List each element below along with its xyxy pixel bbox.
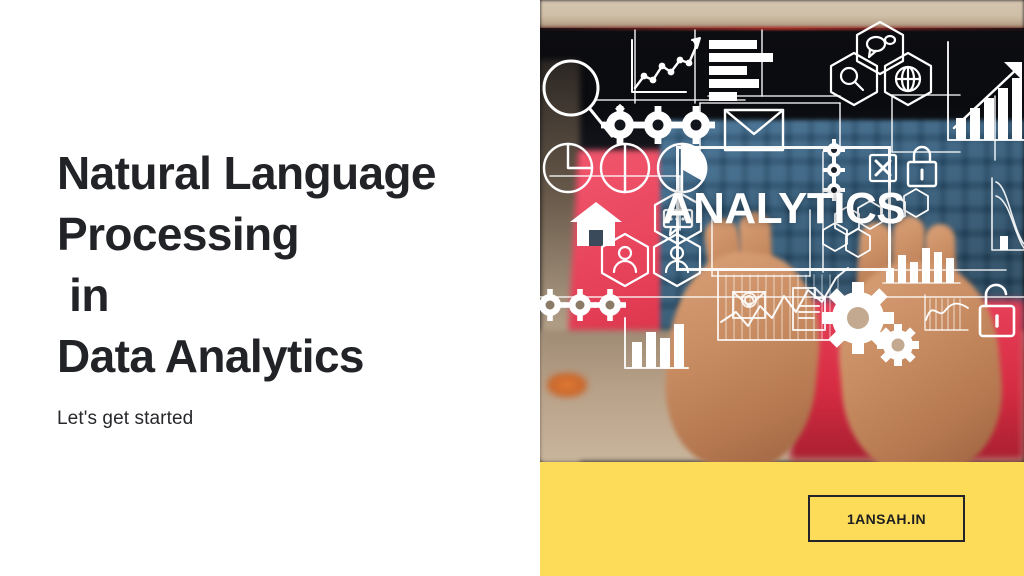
padlock-closed-icon — [908, 147, 936, 186]
brand-label: 1ANSAH.IN — [847, 511, 926, 527]
envelope-icon — [725, 110, 783, 150]
slide-subtitle: Let's get started — [57, 408, 193, 430]
title-line-3: in — [57, 265, 527, 326]
wave-chart-icon — [925, 295, 968, 330]
gear-icon — [601, 104, 715, 144]
image-panel: ANALYTICS 1ANSAH.IN — [540, 0, 1024, 576]
presentation-slide: Natural Language Processing in Data Anal… — [0, 0, 1024, 576]
title-line-2: Processing — [57, 204, 527, 265]
chat-bubble-hexagon-icon — [857, 22, 903, 74]
padlock-open-icon — [980, 285, 1014, 336]
footer-band: 1ANSAH.IN — [540, 462, 1024, 576]
brand-badge[interactable]: 1ANSAH.IN — [808, 495, 965, 542]
gear-icon — [540, 289, 626, 321]
rising-bar-chart-arrow-icon — [948, 42, 1024, 140]
slide-title: Natural Language Processing in Data Anal… — [57, 143, 527, 387]
horizontal-bar-chart-icon — [709, 40, 773, 101]
magnifier-hexagon-icon — [831, 53, 877, 105]
title-line-4: Data Analytics — [57, 326, 527, 387]
bar-chart-icon — [625, 318, 688, 368]
analytics-photo: ANALYTICS — [540, 0, 1024, 462]
area-chart-icon — [718, 268, 850, 340]
title-panel: Natural Language Processing in Data Anal… — [0, 0, 540, 576]
bar-chart-icon — [883, 248, 960, 283]
decay-chart-icon — [992, 178, 1024, 250]
title-line-1: Natural Language — [57, 143, 527, 204]
analytics-headline-text: ANALYTICS — [676, 146, 891, 271]
line-chart-icon — [632, 38, 700, 92]
